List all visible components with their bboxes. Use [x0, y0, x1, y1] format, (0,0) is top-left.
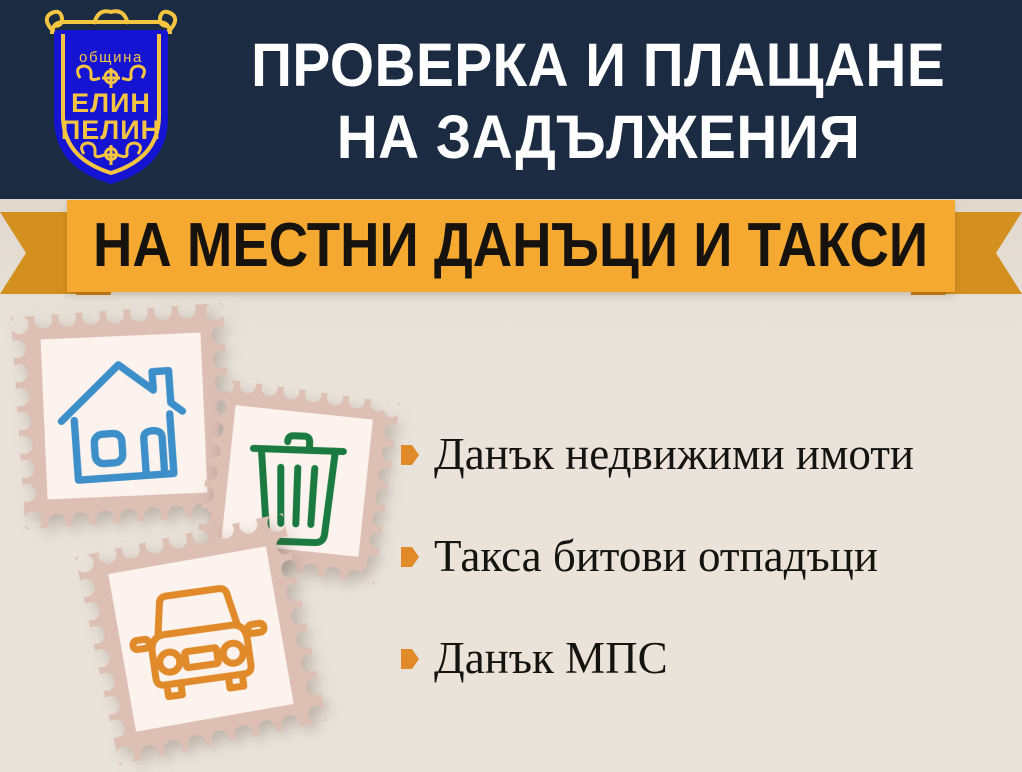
poster-title: ПРОВЕРКА И ПЛАЩАНЕ НА ЗАДЪЛЖЕНИЯ	[190, 16, 1006, 186]
coat-of-arms-icon: община ЕЛИН ПЕЛИН	[36, 8, 186, 188]
logo: община ЕЛИН ПЕЛИН	[36, 8, 186, 188]
list-item[interactable]: Такса битови отпадъци	[400, 530, 1010, 632]
list-item-label: Данък недвижими имоти	[434, 428, 914, 480]
svg-text:ЕЛИН: ЕЛИН	[71, 88, 151, 118]
list-item-label: Данък МПС	[434, 632, 668, 684]
list-item[interactable]: Данък МПС	[400, 632, 1010, 734]
ribbon-label: НА МЕСТНИ ДАНЪЦИ И ТАКСИ	[93, 214, 928, 278]
list-item-label: Такса битови отпадъци	[434, 530, 878, 582]
list-item[interactable]: Данък недвижими имоти	[400, 428, 1010, 530]
bullet-arrow-icon	[400, 648, 420, 670]
header-bar: община ЕЛИН ПЕЛИН	[0, 0, 1022, 199]
stamp-card-vehicle-tax	[75, 513, 326, 764]
title-line-1: ПРОВЕРКА И ПЛАЩАНЕ	[251, 29, 945, 101]
ribbon-main-panel: НА МЕСТНИ ДАНЪЦИ И ТАКСИ	[67, 200, 955, 292]
poster-root: община ЕЛИН ПЕЛИН	[0, 0, 1022, 772]
title-line-2: НА ЗАДЪЛЖЕНИЯ	[336, 101, 860, 173]
stamp-car	[75, 513, 326, 764]
bullet-arrow-icon	[400, 444, 420, 466]
service-list: Данък недвижими имоти Такса битови отпад…	[400, 428, 1010, 734]
bullet-arrow-icon	[400, 546, 420, 568]
svg-text:ПЕЛИН: ПЕЛИН	[61, 115, 161, 145]
svg-text:община: община	[79, 49, 143, 66]
